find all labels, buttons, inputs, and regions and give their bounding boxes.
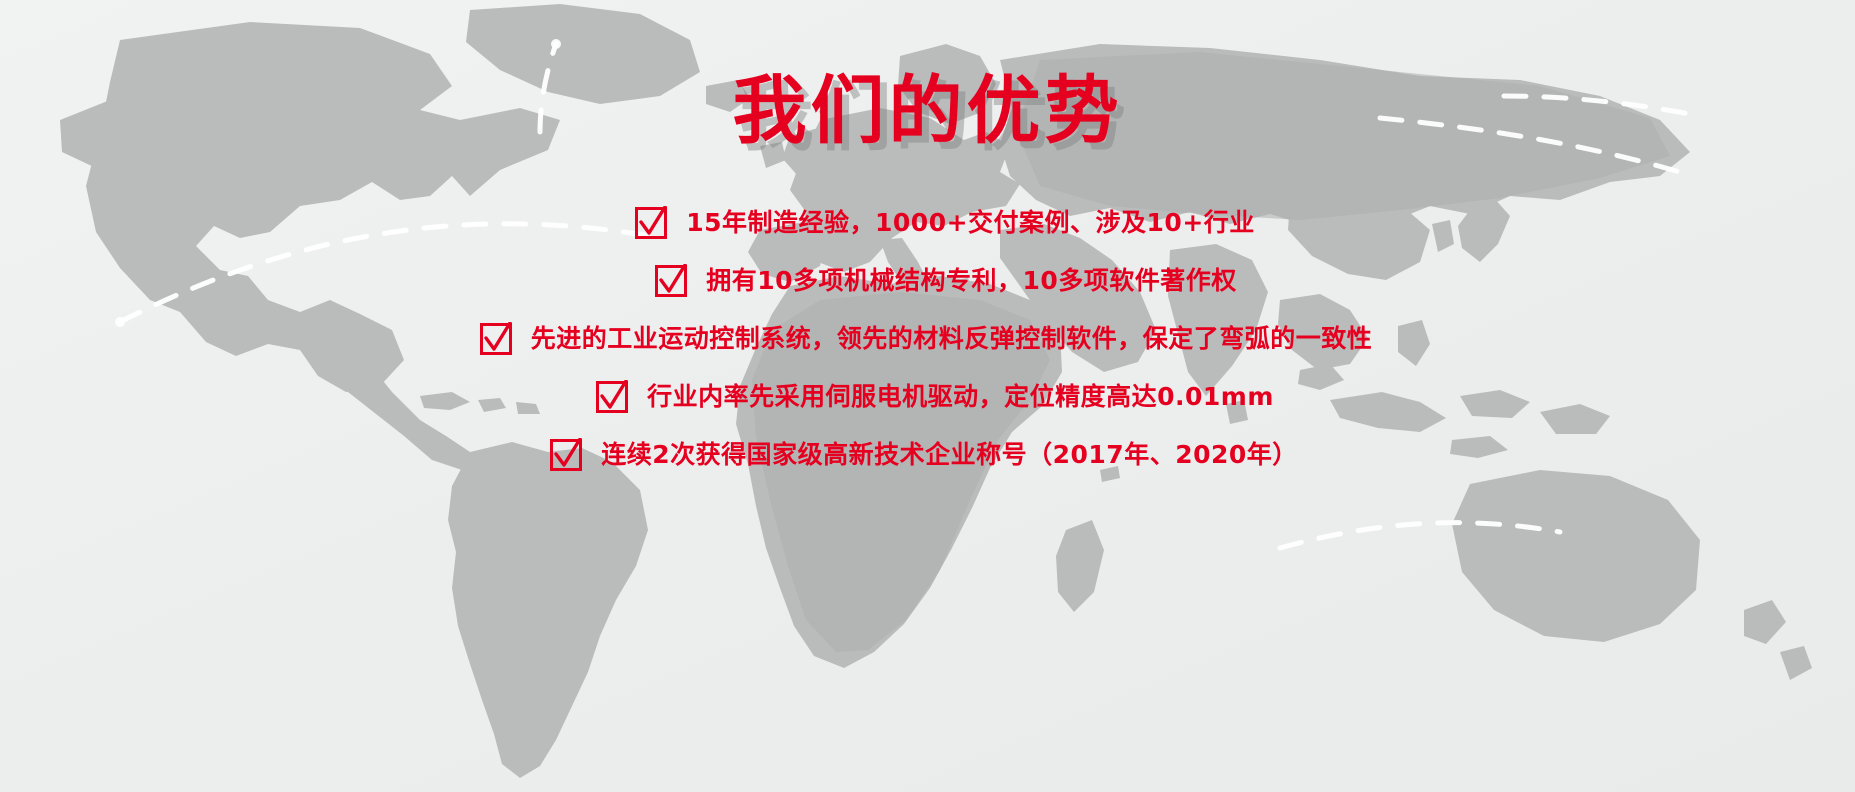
list-item: 15年制造经验，1000+交付案例、涉及10+行业 [634,206,1255,240]
list-item-label: 拥有10多项机械结构专利，10多项软件著作权 [706,267,1237,295]
checkbox-check-icon [595,380,629,414]
page-title: 我们的优势 [733,74,1123,148]
list-item: 行业内率先采用伺服电机驱动，定位精度高达0.01mm [595,380,1274,414]
banner-content: 我们的优势 15年制造经验，1000+交付案例、涉及10+行业 [0,0,1855,792]
advantages-banner: 我们的优势 15年制造经验，1000+交付案例、涉及10+行业 [0,0,1855,792]
checkbox-check-icon [479,322,513,356]
list-item-label: 先进的工业运动控制系统，领先的材料反弹控制软件，保定了弯弧的一致性 [531,325,1373,353]
checkbox-check-icon [634,206,668,240]
list-item-label: 连续2次获得国家级高新技术企业称号（2017年、2020年） [601,441,1298,469]
list-item: 先进的工业运动控制系统，领先的材料反弹控制软件，保定了弯弧的一致性 [479,322,1373,356]
checkbox-check-icon [549,438,583,472]
checkbox-check-icon [654,264,688,298]
advantages-list: 15年制造经验，1000+交付案例、涉及10+行业 拥有10多项机械结构专利，1… [0,206,1855,472]
list-item: 连续2次获得国家级高新技术企业称号（2017年、2020年） [549,438,1298,472]
list-item: 拥有10多项机械结构专利，10多项软件著作权 [654,264,1237,298]
list-item-label: 行业内率先采用伺服电机驱动，定位精度高达0.01mm [647,383,1274,411]
list-item-label: 15年制造经验，1000+交付案例、涉及10+行业 [686,209,1255,237]
